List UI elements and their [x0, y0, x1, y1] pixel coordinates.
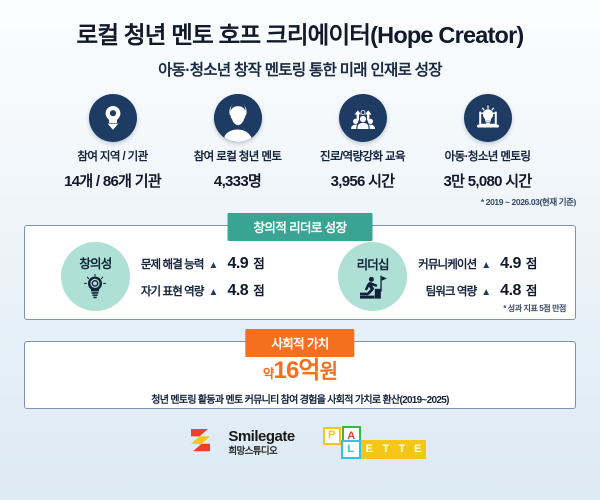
leadership-circle-label: 리더십 — [357, 254, 389, 273]
palette-letter-l: L — [341, 440, 361, 459]
metric-unit: 점 — [253, 280, 264, 299]
metric-value: 4.8 — [227, 282, 248, 300]
creative-panel-footnote: * 성과 지표 5점 만점 — [503, 303, 566, 314]
kpi-item-region: 참여 지역 / 기관 14개 / 86개 기관 — [50, 94, 175, 191]
palette-letter-p: P — [323, 427, 341, 445]
up-arrow-icon: ▲ — [209, 288, 219, 298]
person-avatar-icon — [214, 94, 262, 142]
kpi-label: 참여 지역 / 기관 — [50, 151, 175, 165]
palette-logo: P A L E T T E — [323, 426, 411, 459]
social-value-number: 16억 — [274, 357, 320, 384]
lightbulb-icon — [82, 273, 108, 301]
palette-letter-t2: T — [394, 440, 410, 459]
group-growth-icon — [339, 94, 387, 142]
social-value-amount: 약16억원 — [25, 359, 575, 383]
creative-group-leadership: 리더십 커뮤 — [300, 242, 575, 311]
metric-unit: 점 — [526, 280, 537, 299]
social-value-panel: 사회적 가치 약16억원 청년 멘토링 활동과 멘토 커뮤니티 참여 경험을 사… — [24, 341, 576, 409]
metric-name: 문제 해결 능력 — [141, 256, 204, 272]
palette-letter-e2: E — [410, 440, 426, 459]
kpi-footnote: * 2019 ~ 2026.03(현재 기준) — [0, 196, 600, 208]
social-value-approx: 약 — [263, 367, 274, 381]
up-arrow-icon: ▲ — [481, 288, 491, 298]
up-arrow-icon: ▲ — [481, 261, 491, 271]
smilegate-name: Smilegate — [228, 429, 294, 444]
creative-panel-tag: 창의적 리더로 성장 — [228, 213, 373, 241]
creativity-circle: 창의성 — [61, 242, 130, 311]
metric-name: 자기 표현 역량 — [141, 283, 204, 299]
metric-name: 커뮤니케이션 — [418, 256, 476, 272]
infographic-page: 로컬 청년 멘토 호프 크리에이터(Hope Creator) 아동·청소년 창… — [0, 0, 600, 500]
palette-letter-e1: E — [361, 440, 378, 459]
up-arrow-icon: ▲ — [209, 261, 219, 271]
creativity-metrics: 문제 해결 능력 ▲ 4.9 점 자기 표현 역량 ▲ 4.8 점 — [141, 253, 264, 300]
page-title: 로컬 청년 멘토 호프 크리에이터(Hope Creator) — [0, 22, 600, 49]
kpi-item-education: 진로/역량강화 교육 3,956 시간 — [300, 94, 425, 191]
palette-letter-t1: T — [378, 440, 394, 459]
metric-row: 자기 표현 역량 ▲ 4.8 점 — [141, 280, 264, 300]
kpi-label: 참여 로컬 청년 멘토 — [175, 151, 300, 165]
smilegate-logo-icon — [189, 425, 219, 460]
metric-unit: 점 — [526, 253, 537, 272]
kpi-label: 진로/역량강화 교육 — [300, 151, 425, 165]
creative-group-creativity: 창의성 — [25, 242, 300, 311]
metric-name: 팀워크 역량 — [426, 283, 477, 299]
leadership-circle: 리더십 — [338, 242, 407, 311]
flag-climber-icon — [358, 274, 388, 300]
page-subtitle: 아동·청소년 창작 멘토링 통한 미래 인재로 성장 — [0, 58, 600, 80]
kpi-row: 참여 지역 / 기관 14개 / 86개 기관 참여 로컬 청년 멘토 4,33… — [0, 94, 600, 191]
kpi-item-mentors: 참여 로컬 청년 멘토 4,333명 — [175, 94, 300, 191]
leadership-metrics: 커뮤니케이션 ▲ 4.9 점 팀워크 역량 ▲ 4.8 점 — [418, 253, 537, 300]
header: 로컬 청년 멘토 호프 크리에이터(Hope Creator) 아동·청소년 창… — [0, 0, 600, 80]
social-panel-tag: 사회적 가치 — [245, 329, 354, 357]
social-value-description: 청년 멘토링 활동과 멘토 커뮤니티 참여 경험을 사회적 가치로 환산(201… — [25, 391, 575, 406]
metric-value: 4.9 — [227, 255, 248, 273]
footer-logos: Smilegate 희망스튜디오 P A L E T T E — [0, 425, 600, 460]
kpi-label: 아동·청소년 멘토링 — [425, 151, 550, 165]
creative-leader-panel: 창의적 리더로 성장 창의성 — [24, 225, 576, 320]
smilegate-logo: Smilegate 희망스튜디오 — [189, 425, 294, 460]
metric-value: 4.8 — [500, 282, 521, 300]
metric-value: 4.9 — [500, 255, 521, 273]
metric-unit: 점 — [253, 253, 264, 272]
kpi-value: 14개 / 86개 기관 — [50, 170, 175, 191]
kpi-value: 4,333명 — [175, 170, 300, 191]
creativity-circle-label: 창의성 — [79, 253, 111, 272]
kpi-value: 3,956 시간 — [300, 170, 425, 191]
metric-row: 팀워크 역량 ▲ 4.8 점 — [418, 280, 537, 300]
kpi-item-mentoring: 아동·청소년 멘토링 3만 5,080 시간 — [425, 94, 550, 191]
location-pin-icon — [89, 94, 137, 142]
kpi-value: 3만 5,080 시간 — [425, 170, 550, 191]
metric-row: 커뮤니케이션 ▲ 4.9 점 — [418, 253, 537, 273]
social-value-unit: 원 — [320, 361, 338, 383]
smilegate-sub: 희망스튜디오 — [228, 447, 294, 457]
laptop-idea-icon — [464, 94, 512, 142]
metric-row: 문제 해결 능력 ▲ 4.9 점 — [141, 253, 264, 273]
